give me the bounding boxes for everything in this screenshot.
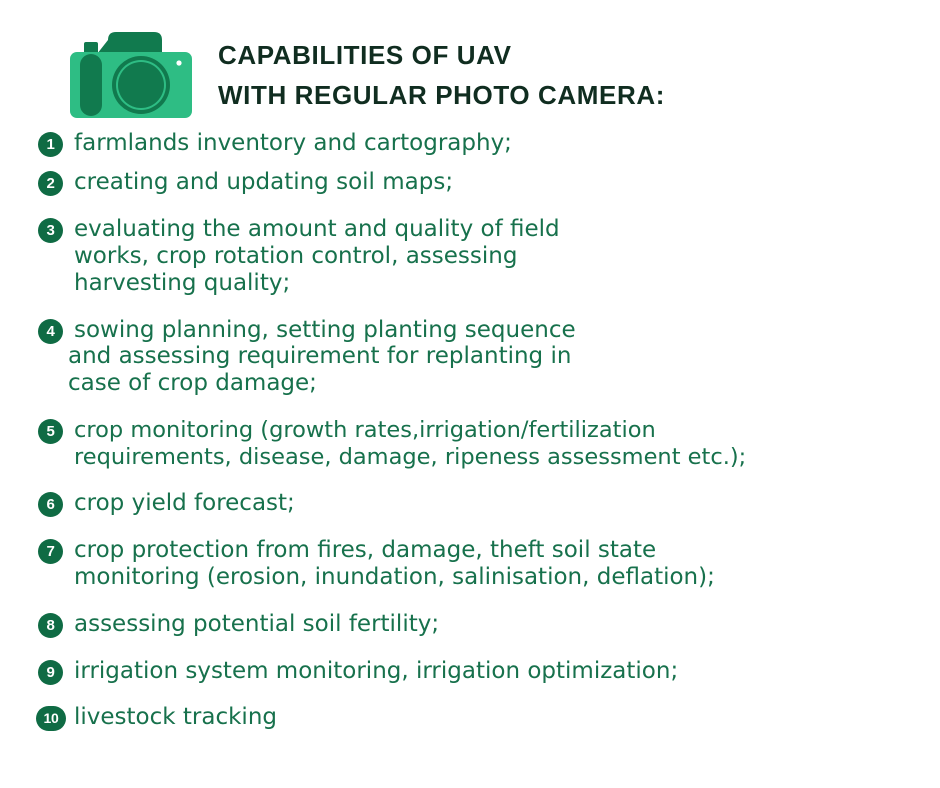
capabilities-poster: CAPABILITIES OF UAV WITH REGULAR PHOTO C… [0,0,940,788]
list-item: 4 sowing planning, setting planting sequ… [28,317,912,398]
list-item: 3 evaluating the amount and quality of f… [28,216,912,297]
title-line-2: WITH REGULAR PHOTO CAMERA: [218,76,665,116]
capabilities-list: 1 farmlands inventory and cartography; 2… [28,130,912,731]
list-item-text: livestock tracking [74,704,912,731]
list-item: 2 creating and updating soil maps; [28,169,912,196]
list-item-number: 3 [38,218,63,243]
text-line: monitoring (erosion, inundation, salinis… [74,564,912,591]
list-item: 10 livestock tracking [28,704,912,731]
text-line: assessing potential soil fertility; [74,611,912,638]
list-item-text: assessing potential soil fertility; [74,611,912,638]
list-item-number: 6 [38,492,63,517]
text-line: irrigation system monitoring, irrigation… [74,658,912,685]
text-line: livestock tracking [74,704,912,731]
text-line: creating and updating soil maps; [74,169,912,196]
list-item-text: irrigation system monitoring, irrigation… [74,658,912,685]
list-item-number: 10 [36,706,66,731]
text-line: crop monitoring (growth rates,irrigation… [74,417,912,443]
list-item: 9 irrigation system monitoring, irrigati… [28,658,912,685]
list-item-number: 5 [38,419,63,444]
list-item-number: 9 [38,660,63,685]
text-line: crop yield forecast; [74,490,912,517]
poster-content: CAPABILITIES OF UAV WITH REGULAR PHOTO C… [28,24,912,764]
list-item-number: 4 [38,319,63,344]
list-item-text: crop protection from fires, damage, thef… [74,537,912,591]
list-item-text: creating and updating soil maps; [74,169,912,196]
list-item: 5 crop monitoring (growth rates,irrigati… [28,417,912,470]
list-item: 1 farmlands inventory and cartography; [28,130,912,157]
list-item-number: 2 [38,171,63,196]
text-line: works, crop rotation control, assessing [74,243,912,270]
list-item: 8 assessing potential soil fertility; [28,611,912,638]
list-item-text: crop yield forecast; [74,490,912,517]
text-line: and assessing requirement for replanting… [68,343,912,370]
text-line: evaluating the amount and quality of fie… [74,216,912,243]
photo-camera-icon [66,30,196,130]
list-item-number: 8 [38,613,63,638]
list-item-text: crop monitoring (growth rates,irrigation… [74,417,912,470]
list-item-text: evaluating the amount and quality of fie… [74,216,912,297]
list-item-number: 1 [38,132,63,157]
list-item-text: farmlands inventory and cartography; [74,130,912,157]
list-item-number: 7 [38,539,63,564]
text-line: crop protection from fires, damage, thef… [74,537,912,564]
poster-title: CAPABILITIES OF UAV WITH REGULAR PHOTO C… [218,28,665,115]
text-line: case of crop damage; [68,370,912,397]
text-line: harvesting quality; [74,270,912,297]
title-line-1: CAPABILITIES OF UAV [218,36,665,76]
list-item: 7 crop protection from fires, damage, th… [28,537,912,591]
poster-header: CAPABILITIES OF UAV WITH REGULAR PHOTO C… [66,28,912,130]
list-item: 6 crop yield forecast; [28,490,912,517]
text-line: sowing planning, setting planting sequen… [74,317,912,344]
text-line: farmlands inventory and cartography; [74,130,912,157]
text-line: requirements, disease, damage, ripeness … [74,444,912,470]
list-item-text: sowing planning, setting planting sequen… [68,317,912,398]
